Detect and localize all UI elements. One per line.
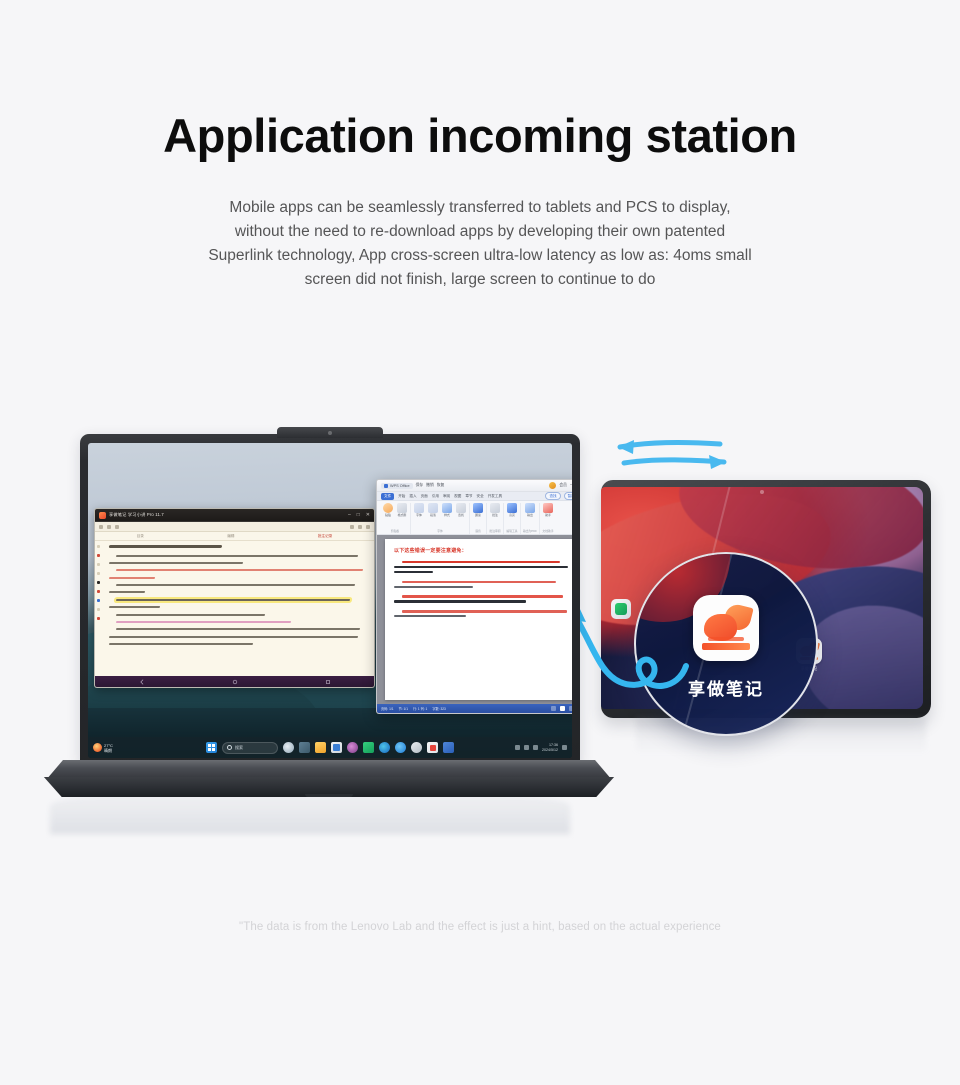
ribbon-pill-find[interactable]: 查找 xyxy=(545,492,560,500)
wps-icon[interactable] xyxy=(443,742,454,753)
marketing-page: Application incoming station Mobile apps… xyxy=(0,0,960,1085)
tablet-camera xyxy=(760,490,764,494)
notes-line-highlighted xyxy=(116,599,350,601)
wps-document-tab[interactable]: WPS Office xyxy=(381,483,413,489)
format-painter-button[interactable]: 格式刷 xyxy=(396,503,408,517)
ribbon-group-clipboard-label: 剪贴板 xyxy=(391,529,399,534)
sun-icon xyxy=(93,743,102,752)
laptop-screen[interactable]: 享做笔记 学习小讲 Pro 11.7 – □ ✕ xyxy=(88,443,572,758)
android-nav-bar[interactable] xyxy=(95,676,374,687)
ribbon-group-edit-tools-label: 编辑工具 xyxy=(506,529,517,534)
ribbon-group-assistant: 助手 文档助手 xyxy=(540,503,556,534)
subtitle-line-4: screen did not finish, large screen to c… xyxy=(0,268,960,292)
notes-tab-1[interactable]: 编辑 xyxy=(227,534,234,539)
footnote: "The data is from the Lenovo Lab and the… xyxy=(0,921,960,933)
notes-heading-line xyxy=(109,545,222,548)
wps-titlebar[interactable]: WPS Office 保存 撤销 恢复 会员 – □ ✕ xyxy=(377,480,572,492)
doc-heading: 以下这些错误一定要注意避免： xyxy=(394,547,572,554)
battery-icon[interactable] xyxy=(562,745,567,750)
close-icon[interactable]: ✕ xyxy=(366,513,370,518)
notes-line-4 xyxy=(116,584,355,586)
paste-button[interactable]: 粘贴 xyxy=(382,503,394,517)
notes-tab-2[interactable]: 批注记录 xyxy=(318,534,332,539)
ribbon-tab-3[interactable]: 页面 xyxy=(421,494,428,499)
find-button[interactable]: 查找 xyxy=(455,503,467,517)
mirrored-notes-window[interactable]: 享做笔记 学习小讲 Pro 11.7 – □ ✕ xyxy=(94,508,375,688)
notes-body[interactable] xyxy=(95,541,374,676)
find-icon xyxy=(456,503,466,513)
ribbon-group-font: 字体 段落 样式 xyxy=(411,503,470,534)
ribbon-group-comments-label: 批注审阅 xyxy=(489,529,500,534)
maximize-icon[interactable]: □ xyxy=(357,513,360,518)
clock-date: 2024/5/12 xyxy=(542,748,558,752)
notes-window-titlebar[interactable]: 享做笔记 学习小讲 Pro 11.7 – □ ✕ xyxy=(95,509,374,522)
view-mode-web-icon[interactable] xyxy=(551,706,556,711)
wps-writer-window[interactable]: WPS Office 保存 撤销 恢复 会员 – □ ✕ xyxy=(376,479,572,714)
share-icon[interactable] xyxy=(350,525,354,529)
ribbon-tab-6[interactable]: 视图 xyxy=(454,494,461,499)
styles-icon xyxy=(442,503,452,513)
status-position: 行: 1 列: 1 xyxy=(413,706,427,711)
weather-temp: 27°C xyxy=(104,743,113,748)
doc-paragraph-3 xyxy=(394,610,572,617)
font-label: 字体 xyxy=(416,514,422,517)
gutter-marker-7 xyxy=(97,608,100,611)
paragraph-label: 段落 xyxy=(430,514,436,517)
highlighter-label: 高亮 xyxy=(509,514,515,517)
ribbon-tab-0[interactable]: 文件 xyxy=(381,493,394,500)
notes-line-10 xyxy=(109,643,253,645)
weather-label: 晴朗 xyxy=(104,748,113,753)
gutter-marker-8 xyxy=(97,617,100,620)
notes-line-examples xyxy=(109,606,161,608)
ribbon-tab-5[interactable]: 审阅 xyxy=(443,494,450,499)
skype-icon[interactable] xyxy=(395,742,406,753)
read-aloud-icon xyxy=(473,503,483,513)
ribbon-group-assistant-label: 文档助手 xyxy=(542,529,553,534)
subtitle-line-2: without the need to re-download apps by … xyxy=(0,220,960,244)
notes-tabs[interactable]: 目录 编辑 批注记录 xyxy=(95,532,374,541)
photos-icon[interactable] xyxy=(347,742,358,753)
doc-paragraph-1 xyxy=(394,581,572,588)
copilot-icon[interactable] xyxy=(283,742,294,753)
page-subtitle: Mobile apps can be seamlessly transferre… xyxy=(0,196,960,292)
wps-status-bar[interactable]: 页码: 1/1 节: 1/1 行: 1 列: 1 字数: 323 100% xyxy=(377,704,572,713)
paragraph-button[interactable]: 段落 xyxy=(427,503,439,517)
read-aloud-label: 朗读 xyxy=(475,514,481,517)
task-view-icon[interactable] xyxy=(299,742,310,753)
export-button[interactable]: 输出 xyxy=(524,503,536,517)
paste-label: 粘贴 xyxy=(385,514,391,517)
ribbon-group-font-label: 字体 xyxy=(437,529,443,534)
windows-taskbar[interactable]: 27°C 晴朗 搜索 xyxy=(88,737,572,758)
pen-icon[interactable] xyxy=(115,525,119,529)
chevron-up-icon[interactable] xyxy=(515,745,520,750)
ribbon-tab-7[interactable]: 章节 xyxy=(465,494,472,499)
gutter-marker-3 xyxy=(97,572,100,575)
settings-icon[interactable] xyxy=(366,525,370,529)
ribbon-group-clipboard: 粘贴 格式刷 剪贴板 xyxy=(380,503,411,534)
assistant-label: 助手 xyxy=(545,514,551,517)
note-app-icon-large xyxy=(693,595,759,661)
status-section: 节: 1/1 xyxy=(399,706,408,711)
page-title: Application incoming station xyxy=(0,108,960,163)
avatar[interactable] xyxy=(549,482,556,489)
notes-line-7 xyxy=(116,621,291,623)
start-button[interactable] xyxy=(206,742,217,753)
wps-document-area[interactable]: 以下这些错误一定要注意避免： xyxy=(377,535,572,704)
ribbon-tab-2[interactable]: 插入 xyxy=(409,494,416,499)
wps-ribbon-tabs[interactable]: 文件 开始 插入 页面 引用 审阅 视图 章节 安全 开发工具 查找 xyxy=(377,492,572,501)
format-painter-label: 格式刷 xyxy=(398,514,407,517)
recents-icon[interactable] xyxy=(325,679,331,685)
highlighter-icon xyxy=(507,503,517,513)
export-label: 输出 xyxy=(527,514,533,517)
comment-icon xyxy=(490,503,500,513)
device-stage: 享做笔记 享做笔记 xyxy=(0,420,960,860)
search-input[interactable]: 搜索 xyxy=(222,742,278,754)
ribbon-group-voice-label: 语音 xyxy=(475,529,481,534)
wps-doc-icon xyxy=(384,484,388,488)
wps-page[interactable]: 以下这些错误一定要注意避免： xyxy=(385,539,572,700)
ribbon-group-voice: 朗读 语音 xyxy=(470,503,487,534)
minimize-icon[interactable]: – xyxy=(348,513,351,518)
font-icon xyxy=(414,503,424,513)
view-mode-outline-icon[interactable] xyxy=(569,706,572,711)
redo-icon[interactable] xyxy=(107,525,111,529)
view-mode-page-icon[interactable] xyxy=(560,706,565,711)
minimize-icon[interactable]: – xyxy=(570,483,572,488)
volume-icon[interactable] xyxy=(533,745,538,750)
microsoft-store-icon[interactable] xyxy=(331,742,342,753)
notes-line-8 xyxy=(116,628,360,630)
comment-label: 批注 xyxy=(492,514,498,517)
ribbon-group-edit-tools: 高亮 编辑工具 xyxy=(504,503,521,534)
comment-button[interactable]: 批注 xyxy=(489,503,501,517)
undo-icon[interactable] xyxy=(99,525,103,529)
read-aloud-button[interactable]: 朗读 xyxy=(472,503,484,517)
taskbar-icons[interactable]: 搜索 xyxy=(206,742,454,754)
font-button[interactable]: 字体 xyxy=(413,503,425,517)
search-icon xyxy=(227,745,232,750)
home-icon[interactable] xyxy=(232,679,238,685)
app-zoom-callout: 享做笔记 xyxy=(634,552,818,736)
assistant-button[interactable]: 助手 xyxy=(542,503,554,517)
assistant-icon xyxy=(543,503,553,513)
highlighter-button[interactable]: 高亮 xyxy=(506,503,518,517)
laptop-base xyxy=(24,760,634,802)
gutter-marker-4 xyxy=(97,581,100,584)
paste-icon xyxy=(383,503,393,513)
laptop-lid: 享做笔记 学习小讲 Pro 11.7 – □ ✕ xyxy=(80,434,580,764)
styles-button[interactable]: 样式 xyxy=(441,503,453,517)
ribbon-group-comments: 批注 批注审阅 xyxy=(487,503,504,534)
file-explorer-icon[interactable] xyxy=(315,742,326,753)
styles-label: 样式 xyxy=(444,514,450,517)
taskbar-clock[interactable]: 17:36 2024/5/12 xyxy=(542,743,558,752)
edge-icon[interactable] xyxy=(379,742,390,753)
note-app-icon-small xyxy=(99,512,106,519)
notes-line-3 xyxy=(109,577,156,579)
notes-app-icon[interactable] xyxy=(427,742,438,753)
more-icon[interactable] xyxy=(358,525,362,529)
subtitle-line-3: Superlink technology, App cross-screen u… xyxy=(0,244,960,268)
status-words: 字数: 323 xyxy=(432,706,445,711)
network-icon[interactable] xyxy=(524,745,529,750)
notes-line-0 xyxy=(116,555,358,557)
ribbon-tab-1[interactable]: 开始 xyxy=(398,494,405,499)
notes-line-1 xyxy=(109,562,243,564)
laptop-device: 享做笔记 学习小讲 Pro 11.7 – □ ✕ xyxy=(24,434,634,824)
system-tray[interactable]: 17:36 2024/5/12 xyxy=(515,743,567,752)
settings-icon[interactable] xyxy=(411,742,422,753)
find-label: 查找 xyxy=(458,514,464,517)
webcam-notch xyxy=(277,427,383,438)
ribbon-tab-9[interactable]: 开发工具 xyxy=(488,494,502,499)
wps-account-label[interactable]: 会员 xyxy=(559,483,567,488)
search-placeholder: 搜索 xyxy=(235,745,243,751)
laptop-lip xyxy=(305,794,354,797)
doc-paragraph-0 xyxy=(394,561,572,573)
notes-window-title: 享做笔记 学习小讲 Pro 11.7 xyxy=(109,512,164,518)
notes-line-5 xyxy=(109,591,145,593)
wps-ribbon[interactable]: 粘贴 格式刷 剪贴板 xyxy=(377,501,572,535)
notes-line-9 xyxy=(109,636,359,638)
wps-quick-undo[interactable]: 撤销 xyxy=(426,483,434,488)
gutter-marker-2 xyxy=(97,563,100,566)
gutter-marker-1 xyxy=(97,554,100,557)
format-painter-icon xyxy=(397,503,407,513)
ribbon-tab-8[interactable]: 安全 xyxy=(477,494,484,499)
subtitle-line-1: Mobile apps can be seamlessly transferre… xyxy=(0,196,960,220)
weather-widget[interactable]: 27°C 晴朗 xyxy=(93,743,113,753)
notes-line-2 xyxy=(116,569,363,571)
whatsapp-icon[interactable] xyxy=(363,742,374,753)
export-icon xyxy=(525,503,535,513)
wps-quick-save[interactable]: 保存 xyxy=(416,483,424,488)
paragraph-icon xyxy=(428,503,438,513)
gutter-marker-6 xyxy=(97,599,100,602)
ribbon-pill-smart-write[interactable]: 智能写作 xyxy=(564,492,572,500)
gutter-marker-5 xyxy=(97,590,100,593)
notes-toolbar[interactable] xyxy=(95,522,374,532)
ribbon-group-export-pdf-label: 输出为PDF xyxy=(523,529,537,534)
gutter-marker-0 xyxy=(97,545,100,548)
wps-quick-redo[interactable]: 恢复 xyxy=(437,483,445,488)
doc-paragraph-2 xyxy=(394,595,572,602)
ribbon-group-export-pdf: 输出 输出为PDF xyxy=(521,503,540,534)
ribbon-tab-4[interactable]: 引用 xyxy=(432,494,439,499)
wps-title-chip-label: WPS Office xyxy=(390,484,410,488)
notes-line-6 xyxy=(116,614,265,616)
notes-tab-0[interactable]: 目录 xyxy=(137,534,144,539)
back-icon[interactable] xyxy=(139,679,145,685)
notes-handwriting xyxy=(109,545,366,645)
notes-gutter xyxy=(97,545,100,620)
app-zoom-callout-label: 享做笔记 xyxy=(688,675,764,700)
status-page: 页码: 1/1 xyxy=(381,706,394,711)
